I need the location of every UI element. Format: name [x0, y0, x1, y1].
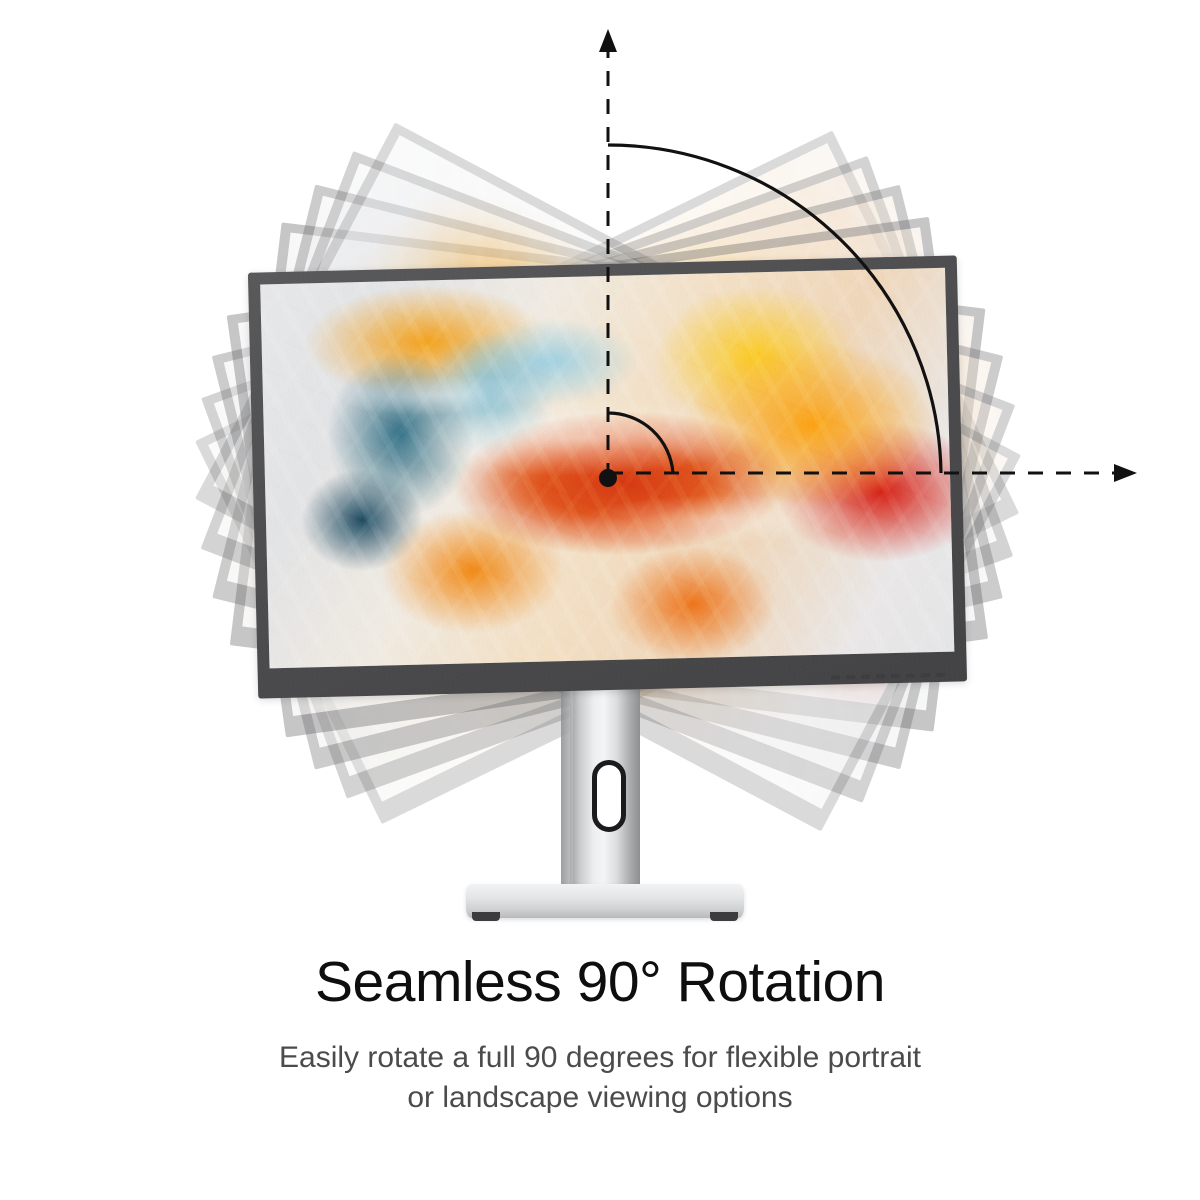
- headline-text: Seamless 90° Rotation: [0, 952, 1200, 1012]
- pivot-point-dot: [599, 469, 617, 487]
- subline-line-1: Easily rotate a full 90 degrees for flex…: [0, 1038, 1200, 1078]
- horizontal-axis-arrowhead: [1114, 464, 1137, 482]
- subline-text: Easily rotate a full 90 degrees for flex…: [0, 1038, 1200, 1118]
- caption-block: Seamless 90° Rotation Easily rotate a fu…: [0, 952, 1200, 1118]
- subline-line-2: or landscape viewing options: [0, 1078, 1200, 1118]
- rotation-arc-inner: [608, 413, 673, 473]
- rotation-arc-outer: [608, 145, 941, 473]
- vertical-axis-arrowhead: [599, 29, 617, 52]
- monitor-rotation-scene: [0, 0, 1200, 945]
- rotation-axis-overlay: [0, 0, 1200, 945]
- product-feature-card: Seamless 90° Rotation Easily rotate a fu…: [0, 0, 1200, 1200]
